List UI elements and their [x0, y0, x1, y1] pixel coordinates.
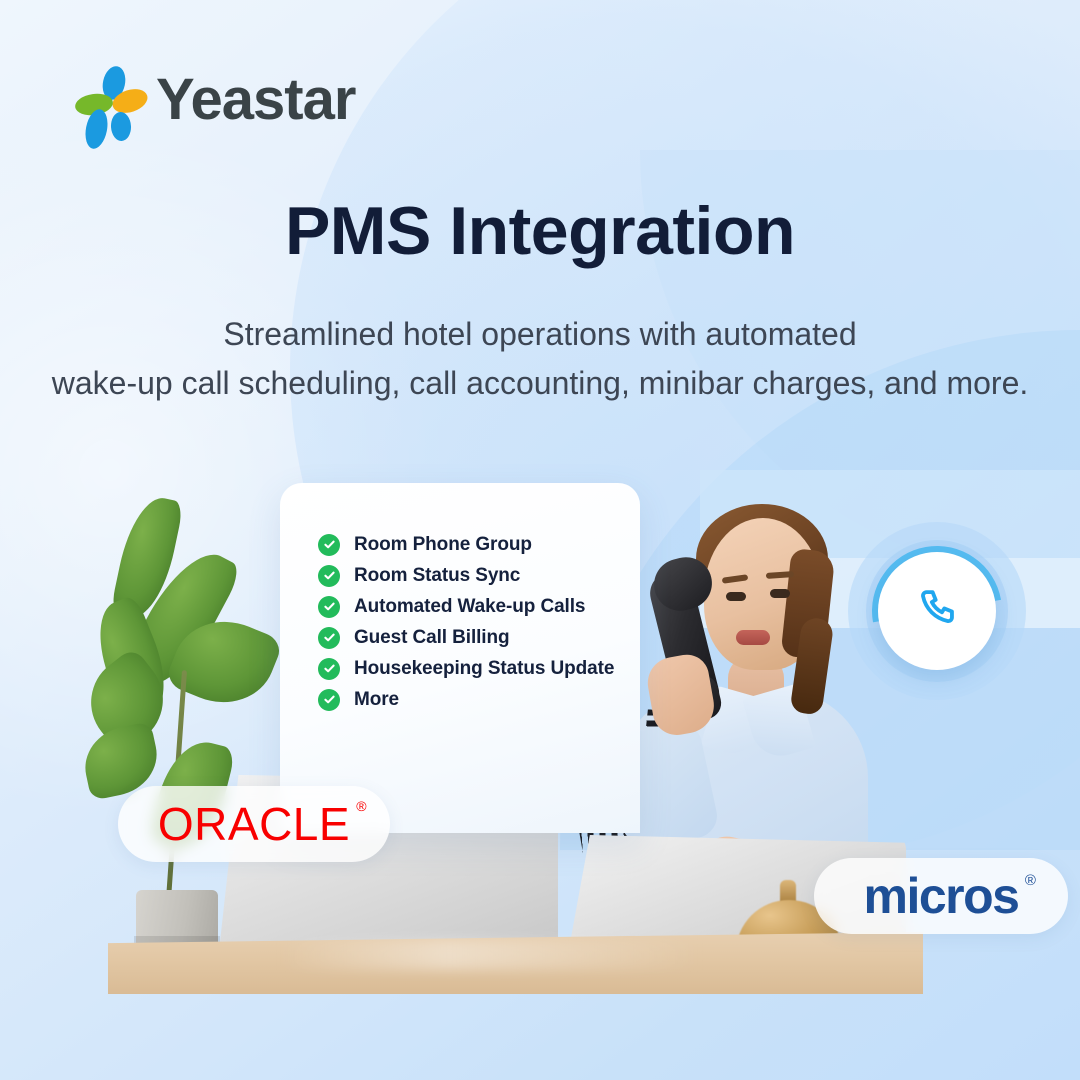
partner-badge-oracle[interactable]: ORACLE ® — [118, 786, 390, 862]
feature-label: Room Status Sync — [354, 565, 520, 587]
list-item[interactable]: More — [318, 686, 614, 717]
brand-logo[interactable]: Yeastar — [78, 64, 355, 136]
micros-wordmark: micros ® — [864, 871, 1019, 921]
phone-handset-icon — [914, 586, 960, 637]
list-item[interactable]: Housekeeping Status Update — [318, 655, 614, 686]
feature-label: Guest Call Billing — [354, 627, 510, 649]
feature-label: More — [354, 689, 399, 711]
check-circle-icon — [318, 596, 340, 618]
check-circle-icon — [318, 627, 340, 649]
phone-badge[interactable] — [878, 552, 996, 670]
page-subtitle: Streamlined hotel operations with automa… — [0, 310, 1080, 407]
yeastar-pinwheel-icon — [78, 64, 140, 136]
check-circle-icon — [318, 658, 340, 680]
check-circle-icon — [318, 689, 340, 711]
logo-petal-blue-bottom-mid — [110, 111, 131, 141]
list-item[interactable]: Room Status Sync — [318, 562, 614, 593]
feature-card: Room Phone Group Room Status Sync Automa… — [280, 483, 640, 833]
partner-badge-micros[interactable]: micros ® — [814, 858, 1068, 934]
check-circle-icon — [318, 565, 340, 587]
oracle-text: ORACLE — [158, 798, 350, 850]
list-item[interactable]: Guest Call Billing — [318, 624, 614, 655]
oracle-wordmark: ORACLE ® — [158, 801, 350, 847]
page-title: PMS Integration — [0, 196, 1080, 267]
subtitle-line-1: Streamlined hotel operations with automa… — [223, 316, 856, 352]
person-eye-right — [770, 589, 790, 598]
subtitle-line-2: wake-up call scheduling, call accounting… — [0, 359, 1080, 408]
list-item[interactable]: Room Phone Group — [318, 531, 614, 562]
check-circle-icon — [318, 534, 340, 556]
feature-label: Housekeeping Status Update — [354, 658, 614, 680]
feature-list: Room Phone Group Room Status Sync Automa… — [318, 531, 614, 717]
registered-trademark-icon: ® — [356, 799, 367, 813]
feature-label: Automated Wake-up Calls — [354, 596, 585, 618]
desk-highlight — [280, 940, 700, 970]
registered-trademark-icon: ® — [1025, 873, 1035, 888]
brand-wordmark: Yeastar — [156, 71, 355, 129]
micros-text: micros — [864, 868, 1019, 924]
feature-label: Room Phone Group — [354, 534, 532, 556]
poster-canvas: Yeastar PMS Integration Streamlined hote… — [0, 0, 1080, 1080]
list-item[interactable]: Automated Wake-up Calls — [318, 593, 614, 624]
person-lips — [736, 630, 770, 645]
person-eye-left — [726, 592, 746, 601]
